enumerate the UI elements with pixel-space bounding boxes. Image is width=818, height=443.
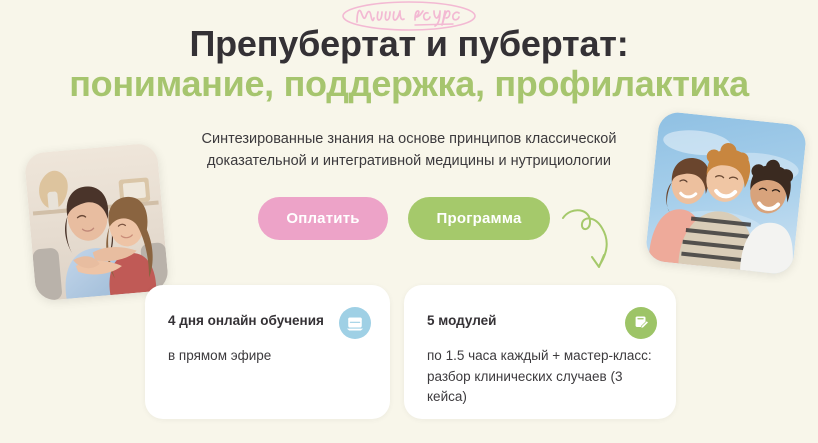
- title-line-2: понимание, поддержка, профилактика: [0, 66, 818, 102]
- cta-button-row: Оплатить Программа: [258, 197, 550, 240]
- curved-arrow-down-icon: [557, 196, 627, 281]
- program-button[interactable]: Программа: [408, 197, 550, 240]
- calendar-icon: [339, 307, 371, 339]
- card-body: в прямом эфире: [168, 346, 372, 367]
- info-card-modules: 5 модулей по 1.5 часа каждый + мастер-кл…: [404, 285, 676, 419]
- card-title: 4 дня онлайн обучения: [168, 313, 324, 328]
- info-card-days: 4 дня онлайн обучения в прямом эфире: [145, 285, 390, 419]
- landing-hero: Препубертат и пубертат: понимание, подде…: [0, 0, 818, 443]
- page-title: Препубертат и пубертат: понимание, подде…: [0, 26, 818, 102]
- page-subtitle: Синтезированные знания на основе принцип…: [149, 128, 669, 173]
- subtitle-line-1: Синтезированные знания на основе принцип…: [149, 128, 669, 150]
- card-title: 5 модулей: [427, 313, 496, 328]
- photo-three-teens: [645, 111, 808, 276]
- note-pencil-icon: [625, 307, 657, 339]
- card-body: по 1.5 часа каждый + мастер-класс: разбо…: [427, 346, 658, 408]
- photo-mother-daughter: [24, 142, 169, 301]
- title-line-1: Препубертат и пубертат:: [0, 26, 818, 62]
- pay-button[interactable]: Оплатить: [258, 197, 388, 240]
- subtitle-line-2: доказательной и интегративной медицины и…: [149, 150, 669, 172]
